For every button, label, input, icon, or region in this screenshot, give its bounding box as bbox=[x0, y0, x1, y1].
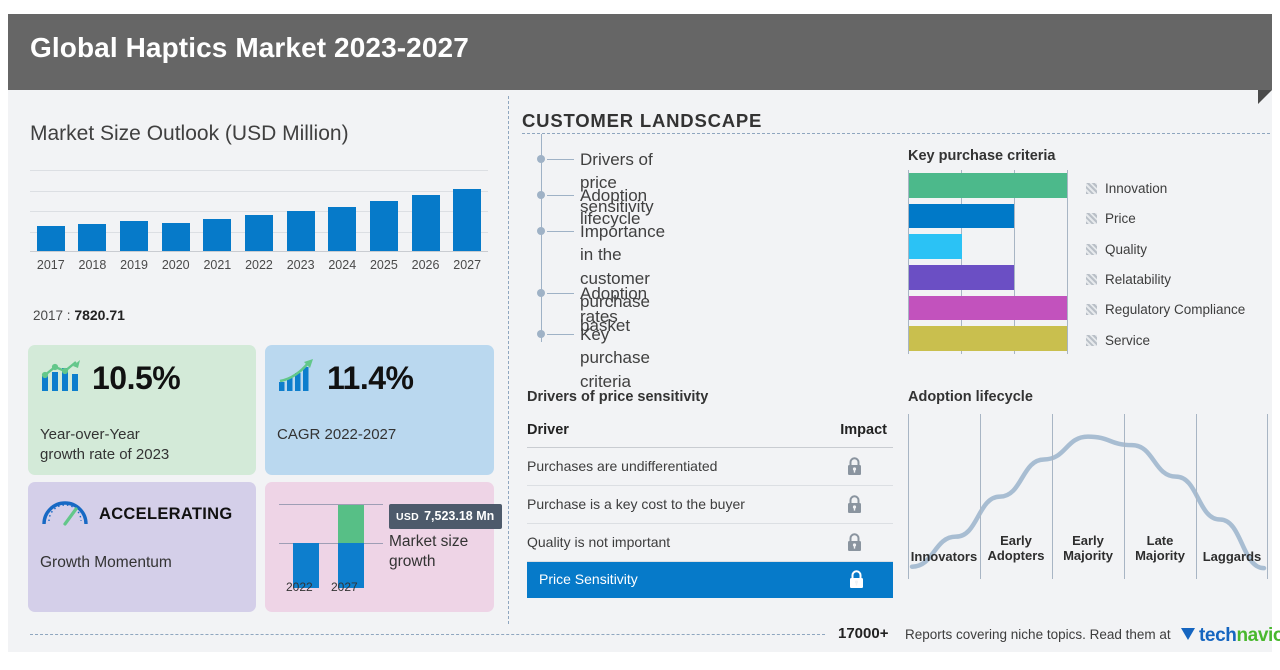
bullet-dot-icon bbox=[537, 155, 545, 163]
page-title: Global Haptics Market 2023-2027 bbox=[30, 32, 469, 64]
connector-line bbox=[547, 293, 574, 295]
bar-label-2027: 2027 bbox=[446, 258, 488, 272]
customer-landscape-item-label: Key purchase criteria bbox=[580, 323, 650, 393]
driver-name: Quality is not important bbox=[527, 534, 670, 550]
kpc-legend-label: Service bbox=[1105, 333, 1150, 348]
bullet-dot-icon bbox=[537, 289, 545, 297]
first-year-number: 7820.71 bbox=[74, 307, 125, 323]
bar-label-2024: 2024 bbox=[321, 258, 363, 272]
footer-divider bbox=[30, 634, 825, 635]
bar-2022 bbox=[245, 215, 273, 252]
first-year-label: 2017 : bbox=[33, 308, 71, 323]
legend-swatch-icon bbox=[1086, 244, 1097, 255]
bar-label-2026: 2026 bbox=[405, 258, 447, 272]
customer-landscape-spine bbox=[541, 134, 542, 342]
bar-label-2021: 2021 bbox=[197, 258, 239, 272]
customer-landscape-title: CUSTOMER LANDSCAPE bbox=[522, 110, 762, 132]
bar-label-2022: 2022 bbox=[238, 258, 280, 272]
bar-label-2019: 2019 bbox=[113, 258, 155, 272]
kpc-bar-innovation bbox=[909, 173, 1067, 198]
adoption-lifecycle-chart: InnovatorsEarly AdoptersEarly MajorityLa… bbox=[908, 414, 1268, 579]
bar-2018 bbox=[78, 224, 106, 252]
adoption-lifecycle-title: Adoption lifecycle bbox=[908, 389, 1033, 405]
driver-name: Price Sensitivity bbox=[539, 571, 638, 587]
kpc-legend-label: Innovation bbox=[1105, 181, 1167, 196]
momentum-subtitle: Growth Momentum bbox=[40, 554, 172, 572]
lock-icon bbox=[848, 570, 865, 594]
page-header: Global Haptics Market 2023-2027 bbox=[8, 14, 1272, 90]
kpc-bar-quality bbox=[909, 234, 962, 259]
column-divider bbox=[508, 96, 509, 624]
kpi-card-market-growth: 20222027 USD7,523.18 Mn Market size grow… bbox=[265, 482, 494, 612]
customer-landscape-underline bbox=[522, 133, 1270, 134]
bar-chart-arrow-up-icon bbox=[277, 359, 317, 398]
kpc-legend-item: Price bbox=[1086, 210, 1136, 228]
drivers-table-row[interactable]: Quality is not important bbox=[527, 524, 893, 562]
legend-swatch-icon bbox=[1086, 213, 1097, 224]
mini-bar-growth-2027 bbox=[338, 505, 364, 543]
adoption-stage-label: Laggards bbox=[1196, 550, 1268, 565]
driver-name: Purchases are undifferentiated bbox=[527, 458, 717, 474]
drivers-table-row[interactable]: Purchases are undifferentiated bbox=[527, 448, 893, 486]
kpi-yoy-value: 10.5% bbox=[92, 360, 180, 397]
chart-gridline bbox=[30, 170, 488, 171]
kpc-legend-label: Relatability bbox=[1105, 272, 1171, 287]
drivers-table-header: Driver Impact bbox=[527, 422, 893, 448]
kpi-cagr-value: 11.4% bbox=[327, 360, 413, 397]
legend-swatch-icon bbox=[1086, 274, 1097, 285]
kpi-card-yoy: 10.5% Year-over-Year growth rate of 2023 bbox=[28, 345, 256, 475]
key-purchase-criteria-title: Key purchase criteria bbox=[908, 148, 1056, 164]
kpc-legend-label: Regulatory Compliance bbox=[1105, 302, 1245, 317]
market-growth-mini-chart: 20222027 bbox=[279, 498, 385, 596]
connector-line bbox=[547, 334, 574, 336]
bullet-dot-icon bbox=[537, 330, 545, 338]
lock-icon bbox=[846, 457, 863, 481]
bar-chart-x-labels: 2017201820192020202120222023202420252026… bbox=[30, 258, 488, 278]
mini-bar-label-2027: 2027 bbox=[331, 580, 358, 594]
adoption-stage-label: Early Majority bbox=[1052, 534, 1124, 564]
drivers-table-title: Drivers of price sensitivity bbox=[527, 389, 708, 405]
logo-text-tech: tech bbox=[1199, 625, 1236, 647]
bullet-dot-icon bbox=[537, 227, 545, 235]
bar-label-2025: 2025 bbox=[363, 258, 405, 272]
legend-swatch-icon bbox=[1086, 304, 1097, 315]
momentum-value: ACCELERATING bbox=[99, 505, 232, 524]
bar-2020 bbox=[162, 223, 190, 252]
lock-icon bbox=[846, 533, 863, 557]
bar-2024 bbox=[328, 207, 356, 252]
badge-unit: USD bbox=[396, 511, 419, 523]
connector-line bbox=[547, 195, 574, 197]
market-growth-badge: USD7,523.18 Mn bbox=[389, 504, 502, 529]
adoption-stage-label: Late Majority bbox=[1124, 534, 1196, 564]
bar-2027 bbox=[453, 189, 481, 252]
connector-line bbox=[547, 159, 574, 161]
kpi-momentum-top: ACCELERATING bbox=[40, 496, 232, 533]
technavio-logo[interactable]: tech navio bbox=[1180, 625, 1280, 647]
bar-2025 bbox=[370, 201, 398, 252]
key-purchase-criteria-chart bbox=[908, 170, 1068, 354]
infographic-page: Global Haptics Market 2023-2027 Market S… bbox=[0, 0, 1280, 670]
kpi-cagr-subtitle: CAGR 2022-2027 bbox=[277, 425, 396, 445]
legend-swatch-icon bbox=[1086, 183, 1097, 194]
bar-2026 bbox=[412, 195, 440, 252]
kpi-yoy-top: 10.5% bbox=[40, 359, 180, 398]
gauge-icon bbox=[40, 496, 90, 533]
footer-report-count: 17000+ bbox=[838, 625, 888, 642]
bar-label-2020: 2020 bbox=[155, 258, 197, 272]
connector-line bbox=[547, 231, 574, 233]
chart-gridline bbox=[30, 191, 488, 192]
kpc-bar-price bbox=[909, 204, 1014, 229]
bar-2023 bbox=[287, 211, 315, 252]
kpc-legend-item: Service bbox=[1086, 332, 1150, 350]
footer-tagline: Reports covering niche topics. Read them… bbox=[905, 627, 1171, 642]
technavio-arrow-icon bbox=[1180, 625, 1196, 647]
mini-bar-label-2022: 2022 bbox=[286, 580, 313, 594]
adoption-stage-label: Innovators bbox=[908, 550, 980, 565]
bar-label-2018: 2018 bbox=[72, 258, 114, 272]
driver-name: Purchase is a key cost to the buyer bbox=[527, 496, 745, 512]
kpc-legend-label: Price bbox=[1105, 211, 1136, 226]
bar-chart-axis bbox=[30, 251, 488, 252]
bar-2017 bbox=[37, 226, 65, 252]
kpc-legend-item: Regulatory Compliance bbox=[1086, 301, 1245, 319]
drivers-col-driver: Driver bbox=[527, 422, 569, 438]
legend-swatch-icon bbox=[1086, 335, 1097, 346]
market-size-chart-title: Market Size Outlook (USD Million) bbox=[30, 122, 349, 146]
kpi-card-momentum: ACCELERATING Growth Momentum bbox=[28, 482, 256, 612]
lock-icon bbox=[846, 495, 863, 519]
drivers-table: Driver Impact Purchases are undifferenti… bbox=[527, 422, 893, 598]
kpc-bar-regulatory-compliance bbox=[909, 296, 1067, 321]
line-bar-chart-up-icon bbox=[40, 359, 82, 398]
kpi-yoy-subtitle: Year-over-Year growth rate of 2023 bbox=[40, 425, 169, 465]
header-fold-corner bbox=[1258, 90, 1272, 104]
mini-gridline bbox=[279, 504, 383, 505]
kpc-legend-item: Quality bbox=[1086, 241, 1147, 259]
kpc-bar-service bbox=[909, 326, 1067, 351]
kpc-bar-relatability bbox=[909, 265, 1014, 290]
kpc-legend-item: Relatability bbox=[1086, 271, 1171, 289]
logo-text-navio: navio bbox=[1236, 625, 1280, 647]
kpc-legend-item: Innovation bbox=[1086, 180, 1167, 198]
drivers-col-impact: Impact bbox=[840, 422, 887, 438]
bar-2019 bbox=[120, 221, 148, 252]
kpi-card-cagr: 11.4% CAGR 2022-2027 bbox=[265, 345, 494, 475]
customer-landscape-item-label: Adoption rates bbox=[580, 282, 647, 329]
bar-label-2017: 2017 bbox=[30, 258, 72, 272]
first-year-value: 2017 : 7820.71 bbox=[33, 307, 125, 323]
badge-value: 7,523.18 Mn bbox=[424, 509, 494, 523]
adoption-stage-label: Early Adopters bbox=[980, 534, 1052, 564]
drivers-table-row[interactable]: Purchase is a key cost to the buyer bbox=[527, 486, 893, 524]
bar-label-2023: 2023 bbox=[280, 258, 322, 272]
bar-2021 bbox=[203, 219, 231, 252]
drivers-table-body: Purchases are undifferentiatedPurchase i… bbox=[527, 448, 893, 598]
kpc-gridline bbox=[1067, 170, 1068, 354]
drivers-table-row[interactable]: Price Sensitivity bbox=[527, 562, 893, 598]
market-growth-text: Market size growth bbox=[389, 532, 468, 572]
kpi-cagr-top: 11.4% bbox=[277, 359, 413, 398]
bullet-dot-icon bbox=[537, 191, 545, 199]
kpc-legend-label: Quality bbox=[1105, 242, 1147, 257]
market-size-bar-chart bbox=[30, 170, 488, 252]
